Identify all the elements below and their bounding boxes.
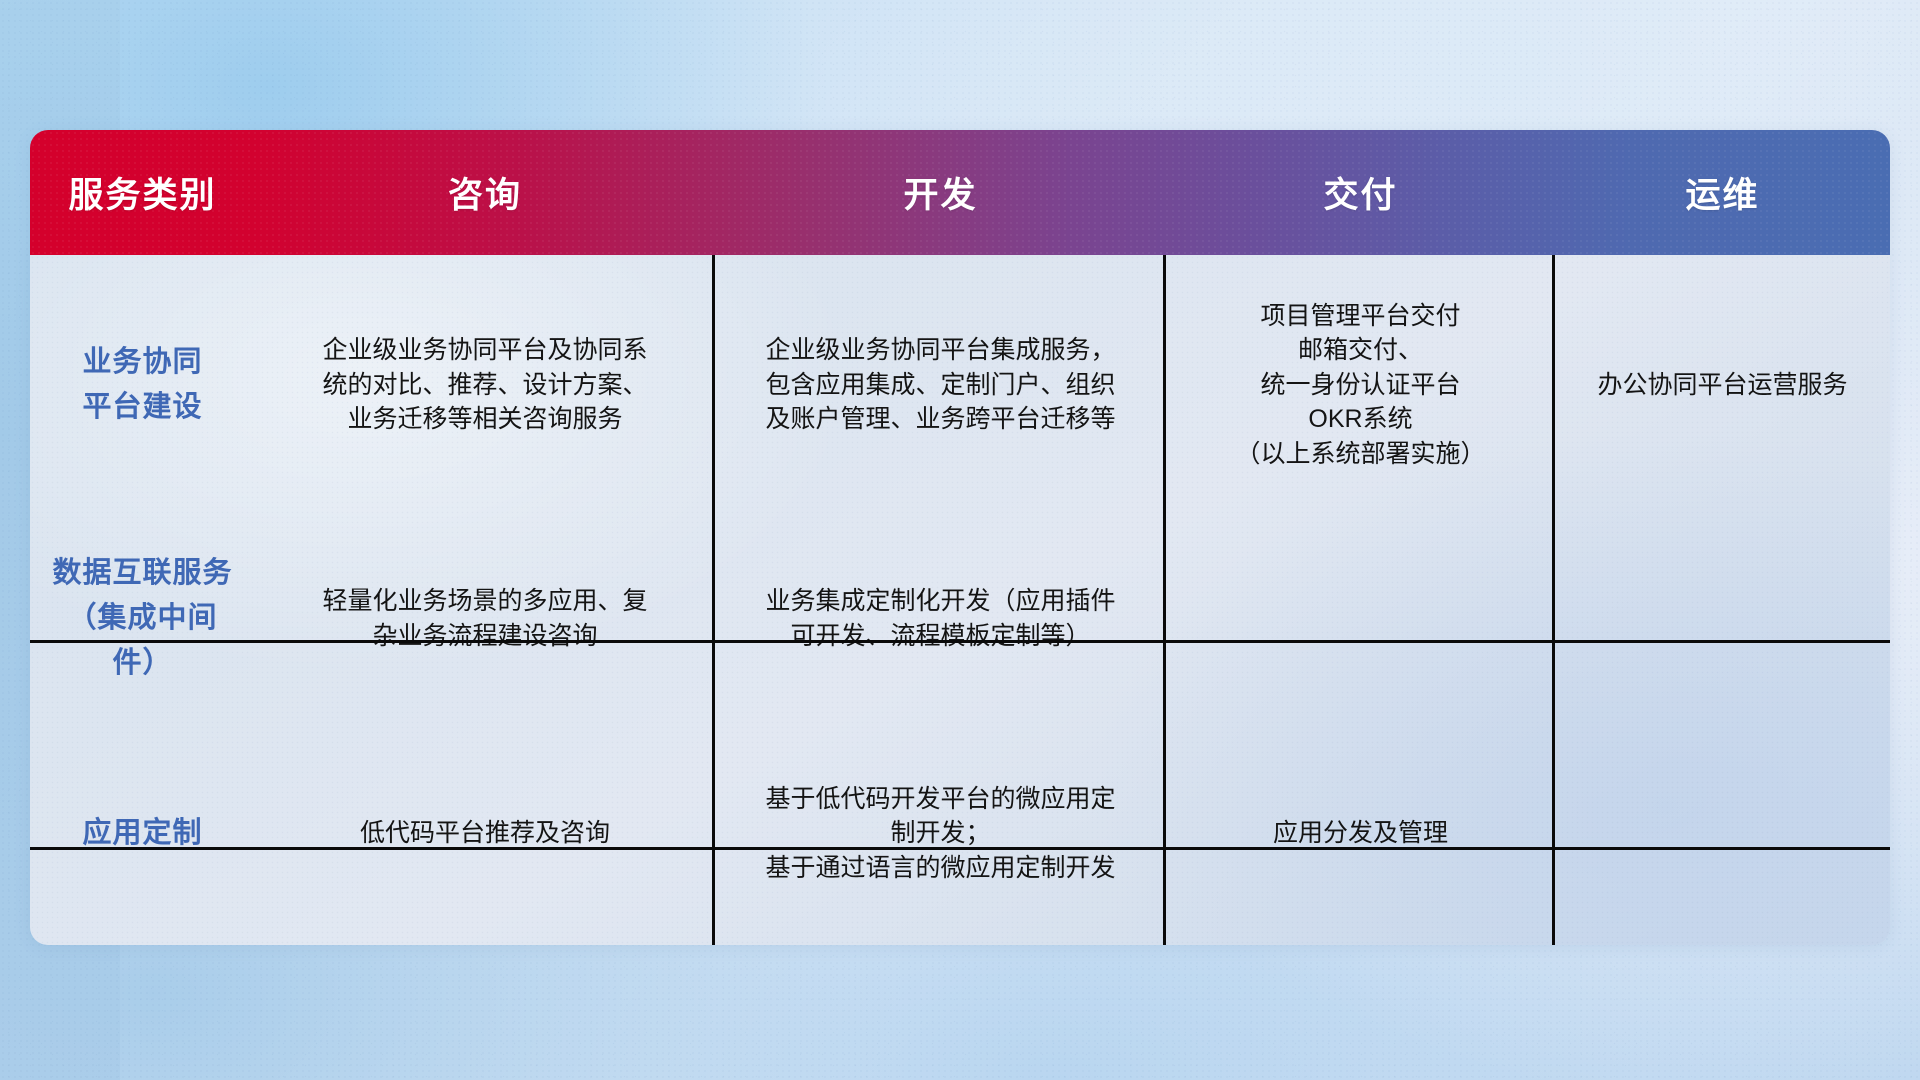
row-divider-1 (30, 640, 1890, 643)
cell-consulting-row3: 低代码平台推荐及咨询 (255, 722, 715, 945)
table-row: 业务协同 平台建设 企业级业务协同平台及协同系 统的对比、推荐、设计方案、 业务… (30, 255, 1890, 515)
service-matrix-table: 服务类别 咨询 开发 交付 运维 业务协同 平台建设 企业级业务协同平台及协同系… (30, 130, 1890, 945)
cell-development-row1: 企业级业务协同平台集成服务， 包含应用集成、定制门户、组织 及账户管理、业务跨平… (715, 255, 1166, 515)
cell-operations-row2 (1555, 515, 1890, 722)
cell-development-row3: 基于低代码开发平台的微应用定 制开发； 基于通过语言的微应用定制开发 (715, 722, 1166, 945)
row-divider-2 (30, 847, 1890, 850)
cell-consulting-row2: 轻量化业务场景的多应用、复 杂业务流程建设咨询 (255, 515, 715, 722)
cell-delivery-row1: 项目管理平台交付 邮箱交付、 统一身份认证平台 OKR系统 （以上系统部署实施） (1166, 255, 1555, 515)
column-header-category: 服务类别 (30, 130, 255, 255)
cell-category-row2: 数据互联服务 （集成中间件） (30, 515, 255, 722)
table-row: 应用定制 低代码平台推荐及咨询 基于低代码开发平台的微应用定 制开发； 基于通过… (30, 722, 1890, 945)
column-header-consulting: 咨询 (255, 130, 715, 255)
column-header-operations: 运维 (1555, 130, 1890, 255)
cell-category-row3: 应用定制 (30, 722, 255, 945)
cell-delivery-row3: 应用分发及管理 (1166, 722, 1555, 945)
cell-operations-row1: 办公协同平台运营服务 (1555, 255, 1890, 515)
table-body: 业务协同 平台建设 企业级业务协同平台及协同系 统的对比、推荐、设计方案、 业务… (30, 255, 1890, 945)
cell-operations-row3 (1555, 722, 1890, 945)
table-header-row: 服务类别 咨询 开发 交付 运维 (30, 130, 1890, 255)
cell-category-row1: 业务协同 平台建设 (30, 255, 255, 515)
cell-development-row2: 业务集成定制化开发（应用插件 可开发、流程模板定制等） (715, 515, 1166, 722)
table-row: 数据互联服务 （集成中间件） 轻量化业务场景的多应用、复 杂业务流程建设咨询 业… (30, 515, 1890, 722)
cell-consulting-row1: 企业级业务协同平台及协同系 统的对比、推荐、设计方案、 业务迁移等相关咨询服务 (255, 255, 715, 515)
column-header-delivery: 交付 (1166, 130, 1555, 255)
column-header-development: 开发 (715, 130, 1166, 255)
cell-delivery-row2 (1166, 515, 1555, 722)
